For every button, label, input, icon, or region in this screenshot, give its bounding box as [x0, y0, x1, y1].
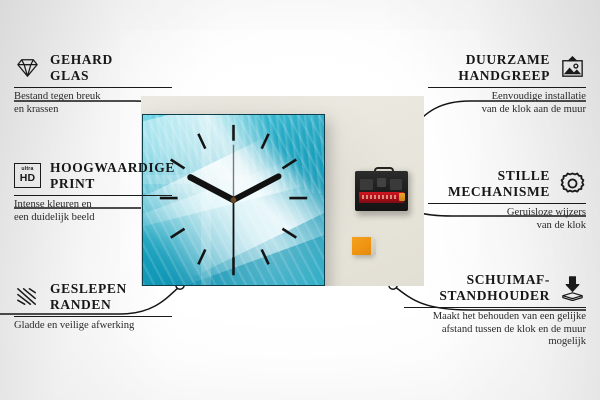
feature-desc: Intense kleuren en een duidelijk beeld [14, 199, 172, 224]
infographic-canvas: GEHARD GLAS Bestand tegen breuk en krass… [0, 0, 600, 400]
feature-hoogwaardige-print: ultra HD HOOGWAARDIGE PRINT Intense kleu… [14, 160, 172, 224]
feature-rule [14, 195, 172, 196]
hand-hub [231, 197, 237, 203]
clock-movement [355, 167, 410, 213]
product-photo [141, 96, 424, 286]
ultra-hd-icon-bottom: HD [20, 173, 36, 184]
feature-title: HOOGWAARDIGE PRINT [50, 160, 175, 191]
feature-desc: Maakt het behouden van een gelijke afsta… [404, 311, 586, 348]
foam-pad [352, 237, 371, 255]
feature-header: ultra HD HOOGWAARDIGE PRINT [14, 160, 172, 191]
feature-geslepen-randen: GESLEPEN RANDEN Gladde en veilige afwerk… [14, 281, 172, 333]
picture-frame-icon [559, 54, 586, 81]
minute-hand [233, 176, 278, 200]
feature-title: DUURZAME HANDGREEP [458, 52, 550, 83]
diagonal-lines-icon [14, 283, 41, 310]
feature-title: STILLE MECHANISME [448, 168, 550, 199]
feature-rule [14, 87, 172, 88]
movement-slot-center [377, 178, 386, 187]
movement-slot-left [360, 179, 373, 190]
feature-desc: Eenvoudige installatie van de klok aan d… [428, 91, 586, 116]
feature-schuimaf-standhouder: SCHUIMAF- STANDHOUDER Maakt het behouden… [404, 272, 586, 349]
feature-desc: Gladde en veilige afwerking [14, 320, 172, 332]
gear-icon [559, 170, 586, 197]
feature-rule [428, 87, 586, 88]
feature-duurzame-handgreep: DUURZAME HANDGREEP Eenvoudige installati… [428, 52, 586, 116]
movement-body [355, 171, 408, 211]
feature-rule [14, 316, 172, 317]
feature-desc: Bestand tegen breuk en krassen [14, 91, 172, 116]
foam-pad-side [371, 239, 376, 255]
press-down-icon [559, 274, 586, 301]
battery-positive-terminal [399, 193, 405, 201]
diamond-icon [14, 54, 41, 81]
feature-title: SCHUIMAF- STANDHOUDER [439, 272, 550, 303]
feature-rule [404, 307, 586, 308]
feature-title: GEHARD GLAS [50, 52, 113, 83]
feature-rule [428, 203, 586, 204]
feature-header: STILLE MECHANISME [428, 168, 586, 199]
hour-hand [190, 177, 233, 200]
battery-label [362, 195, 396, 199]
feature-gehard-glas: GEHARD GLAS Bestand tegen breuk en krass… [14, 52, 172, 116]
feature-stille-mechanisme: STILLE MECHANISME Geruisloze wijzers van… [428, 168, 586, 232]
ultra-hd-icon: ultra HD [14, 163, 41, 188]
feature-title: GESLEPEN RANDEN [50, 281, 127, 312]
feature-header: DUURZAME HANDGREEP [428, 52, 586, 83]
feature-header: GEHARD GLAS [14, 52, 172, 83]
feature-header: GESLEPEN RANDEN [14, 281, 172, 312]
feature-desc: Geruisloze wijzers van de klok [428, 207, 586, 232]
movement-slot-right [390, 179, 402, 190]
feature-header: SCHUIMAF- STANDHOUDER [404, 272, 586, 303]
